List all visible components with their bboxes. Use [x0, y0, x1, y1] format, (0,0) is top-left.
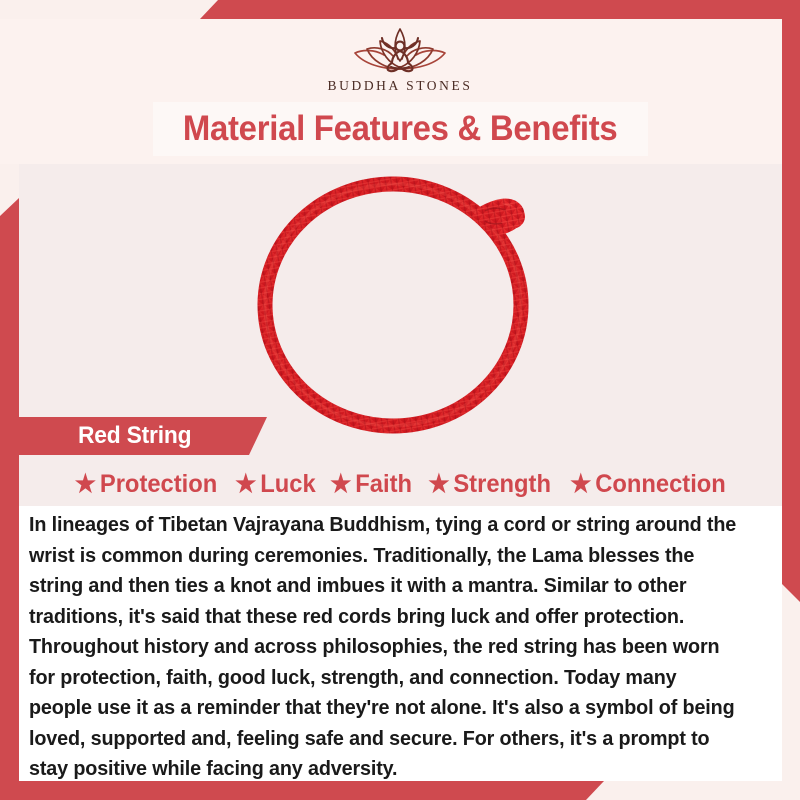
red-braided-cord-bracelet-icon: [251, 169, 551, 439]
product-label-banner: Red String: [19, 417, 267, 455]
feature-item-faith: ★ Faith: [330, 470, 412, 499]
brand-name: BUDDHA STONES: [328, 78, 473, 94]
star-icon: ★: [75, 472, 96, 497]
feature-label: Faith: [356, 470, 413, 499]
feature-label: Strength: [454, 470, 552, 499]
star-icon: ★: [570, 472, 591, 497]
product-image-area: [19, 164, 782, 444]
page-title: Material Features & Benefits: [183, 109, 618, 149]
star-icon: ★: [330, 472, 351, 497]
description-panel: In lineages of Tibetan Vajrayana Buddhis…: [19, 506, 782, 781]
description-text: In lineages of Tibetan Vajrayana Buddhis…: [29, 510, 740, 785]
left-accent-band: [0, 198, 19, 800]
brand-logo: BUDDHA STONES: [0, 19, 800, 101]
feature-label: Connection: [595, 470, 726, 499]
feature-list: ★ Protection ★ Luck ★ Faith ★ Strength ★…: [19, 464, 782, 504]
feature-label: Luck: [260, 470, 315, 499]
top-accent-band: [200, 0, 800, 19]
star-icon: ★: [429, 472, 450, 497]
feature-item-connection: ★ Connection: [570, 470, 726, 499]
product-label: Red String: [78, 422, 191, 450]
feature-label: Protection: [100, 470, 217, 499]
star-icon: ★: [235, 472, 256, 497]
feature-item-strength: ★ Strength: [429, 470, 552, 499]
title-banner: Material Features & Benefits: [153, 102, 648, 156]
feature-item-luck: ★ Luck: [235, 470, 316, 499]
lotus-meditation-icon: [342, 19, 458, 77]
feature-item-protection: ★ Protection: [75, 470, 218, 499]
infographic-page: BUDDHA STONES Material Features & Benefi…: [0, 0, 800, 800]
